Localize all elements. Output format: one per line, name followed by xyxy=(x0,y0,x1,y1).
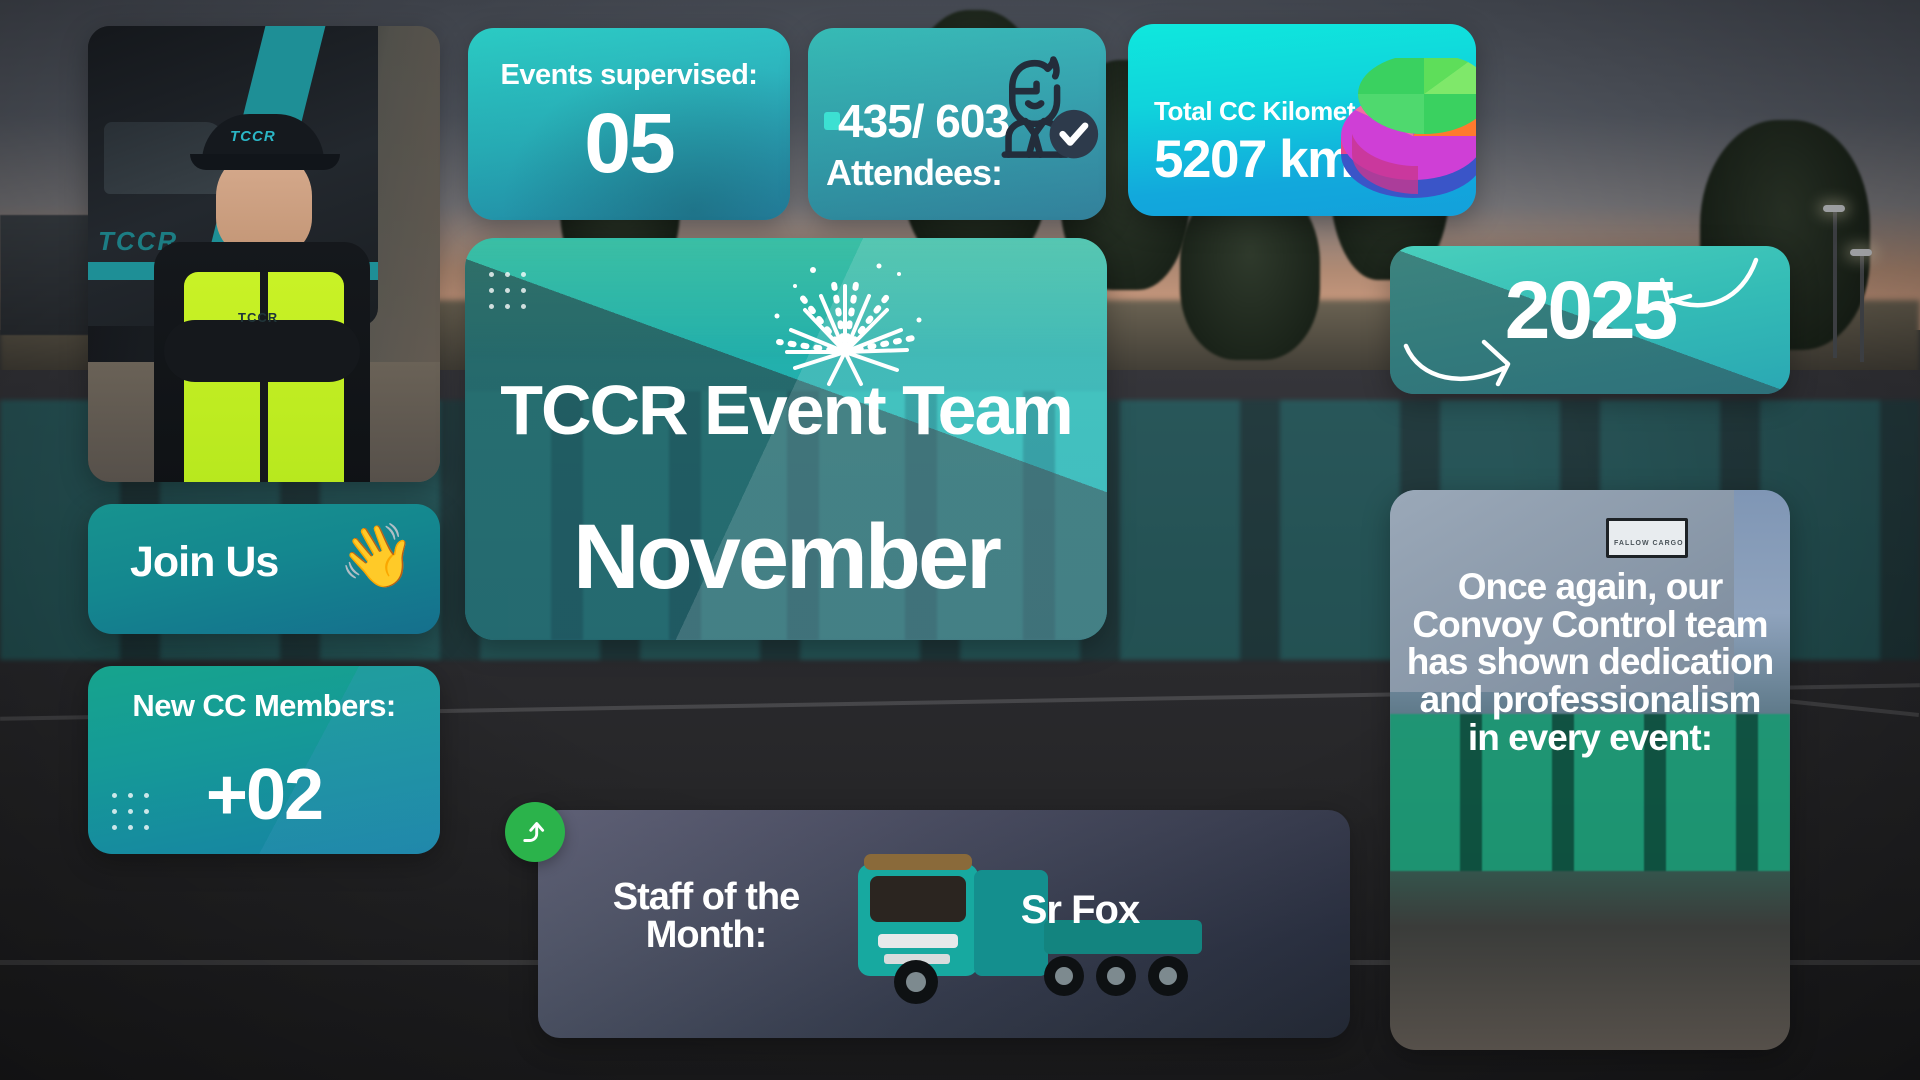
hero-month: November xyxy=(465,510,1107,606)
year-card-content: 2025 xyxy=(1390,246,1790,394)
firework-sparkle-icon xyxy=(761,256,929,388)
pie-chart-icon xyxy=(1322,58,1476,208)
dot-grid-icon xyxy=(489,272,526,309)
attendees-count: 435/ 603 xyxy=(838,98,1009,146)
join-us-label: Join Us xyxy=(130,540,278,585)
events-card-content: Events supervised: 05 xyxy=(468,28,790,220)
billboard xyxy=(1606,518,1688,558)
events-supervised-card[interactable]: Events supervised: 05 xyxy=(468,28,790,220)
curved-up-arrow-icon xyxy=(518,815,552,849)
join-us-card[interactable]: Join Us 👋 xyxy=(88,504,440,634)
new-members-card[interactable]: New CC Members: +02 xyxy=(88,666,440,854)
staff-of-the-month-label: Staff of the Month: xyxy=(566,878,846,954)
convoy-control-blurb-card: FALLOW CARGO Once again, our Convoy Cont… xyxy=(1390,490,1790,1050)
growth-badge[interactable] xyxy=(505,802,565,862)
staff-card-content: Staff of the Month: Sr Fox xyxy=(538,810,1350,1038)
attendees-card[interactable]: 435/ 603 Attendees: xyxy=(808,28,1106,220)
vest-logo: TCCR xyxy=(238,310,278,325)
year-card: 2025 xyxy=(1390,246,1790,394)
total-kilometers-card[interactable]: Total CC Kilometers: 5207 km xyxy=(1128,24,1476,216)
waving-hand-icon: 👋 xyxy=(339,526,416,588)
person-arms xyxy=(164,320,360,382)
verified-person-icon xyxy=(988,50,1100,166)
staff-person: TCCR TCCR xyxy=(142,114,382,482)
staff-of-the-month-name: Sr Fox xyxy=(930,890,1230,932)
cap-logo: TCCR xyxy=(230,128,276,145)
members-card-content: New CC Members: +02 xyxy=(88,666,440,854)
attendees-card-content: 435/ 603 Attendees: xyxy=(808,28,1106,220)
staff-portrait-card: TCCR TCCR TCCR xyxy=(88,26,440,482)
new-members-label: New CC Members: xyxy=(88,690,440,722)
hero-event-card: TCCR Event Team November xyxy=(465,238,1107,640)
hero-title: TCCR Event Team xyxy=(465,378,1107,444)
join-card-content: Join Us 👋 xyxy=(88,504,440,634)
billboard-text: FALLOW CARGO xyxy=(1614,540,1684,547)
attendees-label: Attendees: xyxy=(826,154,1002,191)
dot-grid-icon xyxy=(112,793,149,830)
blurb-text: Once again, our Convoy Control team has … xyxy=(1390,568,1790,757)
staff-of-the-month-card[interactable]: Staff of the Month: Sr Fox xyxy=(538,810,1350,1038)
events-value: 05 xyxy=(468,100,790,187)
events-label: Events supervised: xyxy=(468,60,790,90)
curved-arrow-down-left-icon xyxy=(1646,252,1766,322)
curved-arrow-up-right-icon xyxy=(1400,322,1530,390)
